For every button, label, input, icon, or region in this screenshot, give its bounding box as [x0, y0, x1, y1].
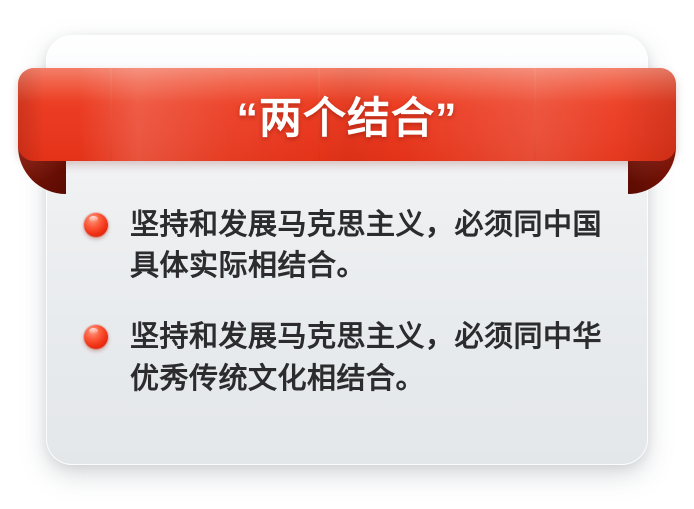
- bullet-list: 坚持和发展马克思主义，必须同中国具体实际相结合。 坚持和发展马克思主义，必须同中…: [46, 205, 648, 400]
- list-item: 坚持和发展马克思主义，必须同中国具体实际相结合。: [84, 205, 614, 287]
- page-title: “两个结合”: [0, 68, 694, 161]
- list-item-label: 坚持和发展马克思主义，必须同中华优秀传统文化相结合。: [130, 317, 614, 399]
- list-item-label: 坚持和发展马克思主义，必须同中国具体实际相结合。: [130, 205, 614, 287]
- bullet-dot-icon: [84, 325, 108, 349]
- bullet-dot-icon: [84, 213, 108, 237]
- ribbon-banner: “两个结合”: [0, 68, 694, 161]
- list-item: 坚持和发展马克思主义，必须同中华优秀传统文化相结合。: [84, 317, 614, 399]
- poster-stage: “两个结合” 坚持和发展马克思主义，必须同中国具体实际相结合。 坚持和发展马克思…: [0, 0, 694, 509]
